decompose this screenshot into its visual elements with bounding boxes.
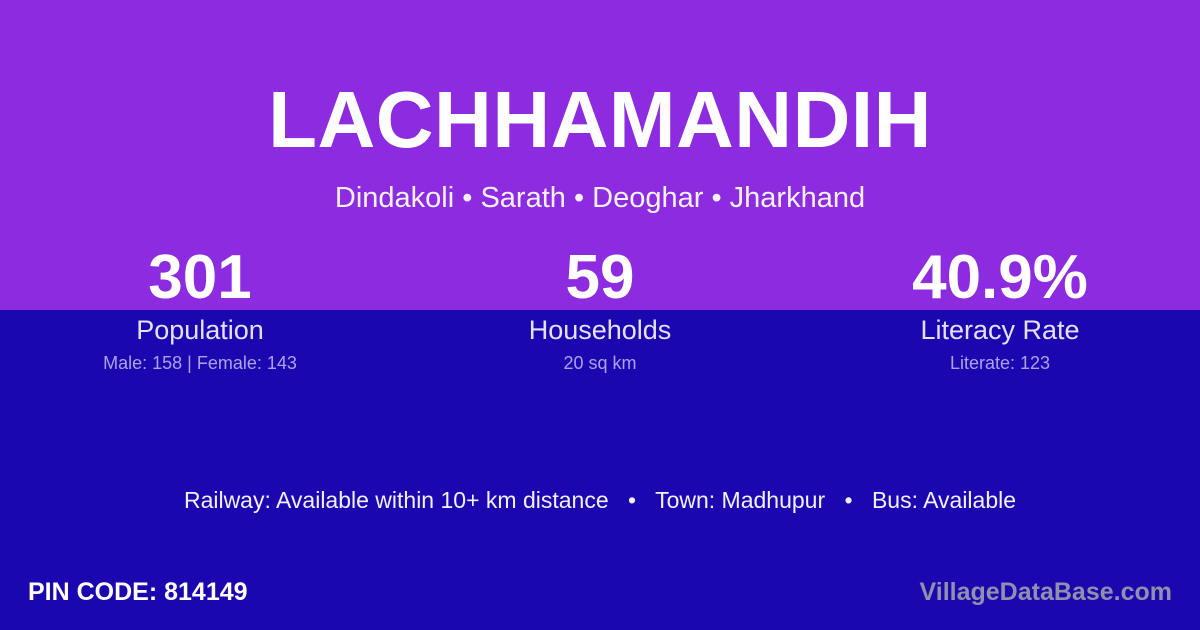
amenity-town: Town: Madhupur — [655, 487, 825, 513]
stat-sub-households: 20 sq km — [400, 352, 800, 374]
footer-bar: PIN CODE: 814149 VillageDataBase.com — [0, 570, 1200, 614]
amenity-separator-2: • — [832, 484, 866, 516]
site-brand: VillageDataBase.com — [920, 577, 1200, 607]
stat-label-population: Population — [0, 315, 400, 345]
stats-row: 301 Population Male: 158 | Female: 143 5… — [0, 246, 1200, 374]
village-info-card: LACHHAMANDIH Dindakoli • Sarath • Deogha… — [0, 0, 1200, 630]
stat-households: 59 Households 20 sq km — [400, 246, 800, 374]
stat-literacy-rate: 40.9% Literacy Rate Literate: 123 — [800, 246, 1200, 374]
stat-sub-population: Male: 158 | Female: 143 — [0, 352, 400, 374]
stat-value-population: 301 — [0, 246, 400, 310]
amenity-railway: Railway: Available within 10+ km distanc… — [184, 487, 609, 513]
amenities-row: Railway: Available within 10+ km distanc… — [0, 484, 1200, 516]
stat-value-households: 59 — [400, 246, 800, 310]
page-title: LACHHAMANDIH — [0, 80, 1200, 160]
amenity-separator-1: • — [615, 484, 649, 516]
stat-population: 301 Population Male: 158 | Female: 143 — [0, 246, 400, 374]
stat-value-literacy-rate: 40.9% — [800, 246, 1200, 310]
stat-label-households: Households — [400, 315, 800, 345]
stat-sub-literacy-rate: Literate: 123 — [800, 352, 1200, 374]
breadcrumb: Dindakoli • Sarath • Deoghar • Jharkhand — [0, 182, 1200, 215]
pin-code: PIN CODE: 814149 — [0, 577, 248, 607]
amenity-bus: Bus: Available — [872, 487, 1016, 513]
stat-label-literacy-rate: Literacy Rate — [800, 315, 1200, 345]
